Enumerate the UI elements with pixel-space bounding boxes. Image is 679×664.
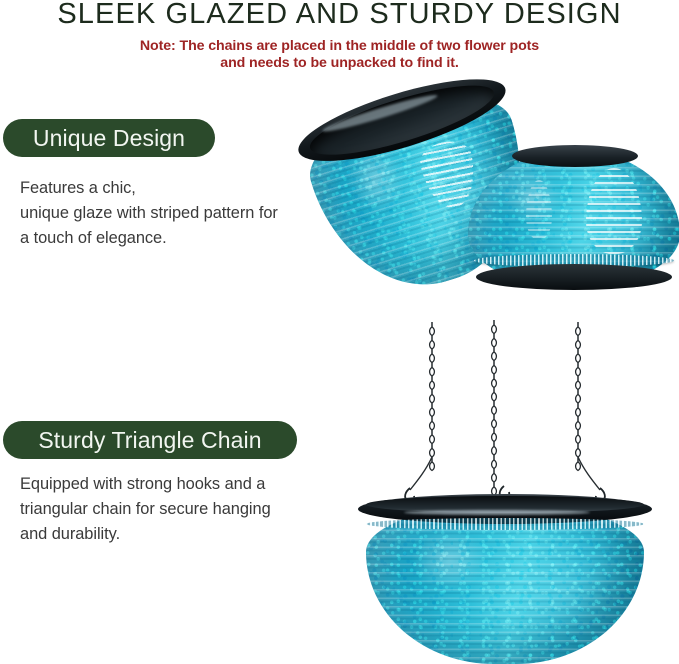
page-title: SLEEK GLAZED AND STURDY DESIGN: [0, 0, 679, 31]
stripe-highlight-secondary: [526, 180, 552, 240]
feature-1-line-3: a touch of elegance.: [20, 226, 350, 251]
note-line-2: and needs to be unpacked to find it.: [0, 55, 679, 72]
chain-right: [576, 322, 581, 471]
chain-center: [492, 320, 497, 496]
feature-description-unique-design: Features a chic, unique glaze with strip…: [20, 176, 350, 251]
hanging-planter-bead-band: [366, 518, 644, 530]
note-text: Note: The chains are placed in the middl…: [0, 38, 679, 72]
hanging-planter-rim-glint: [404, 510, 590, 515]
dome-bowl-base-rim: [476, 264, 672, 290]
feature-1-line-1: Features a chic,: [20, 176, 350, 201]
hanging-planter-image: [330, 318, 679, 631]
feature-description-sturdy-triangle-chain: Equipped with strong hooks and a triangu…: [20, 472, 350, 547]
infographic-canvas: SLEEK GLAZED AND STURDY DESIGN Note: The…: [0, 0, 679, 631]
chain-left: [385, 322, 434, 478]
inverted-dome-bowl-image: [468, 150, 679, 298]
feature-2-line-2: triangular chain for secure hanging: [20, 497, 350, 522]
chain-lower-runs: [410, 457, 600, 490]
feature-badge-sturdy-triangle-chain: Sturdy Triangle Chain: [3, 421, 297, 459]
feature-badge-unique-design: Unique Design: [3, 119, 215, 157]
feature-2-line-3: and durability.: [20, 522, 350, 547]
note-line-1: Note: The chains are placed in the middl…: [0, 38, 679, 55]
triangle-chain-assembly: [330, 318, 679, 508]
feature-1-line-2: unique glaze with striped pattern for: [20, 201, 350, 226]
feature-2-line-1: Equipped with strong hooks and a: [20, 472, 350, 497]
stripe-highlight: [586, 168, 642, 254]
dome-bowl-top-rim: [512, 145, 638, 167]
